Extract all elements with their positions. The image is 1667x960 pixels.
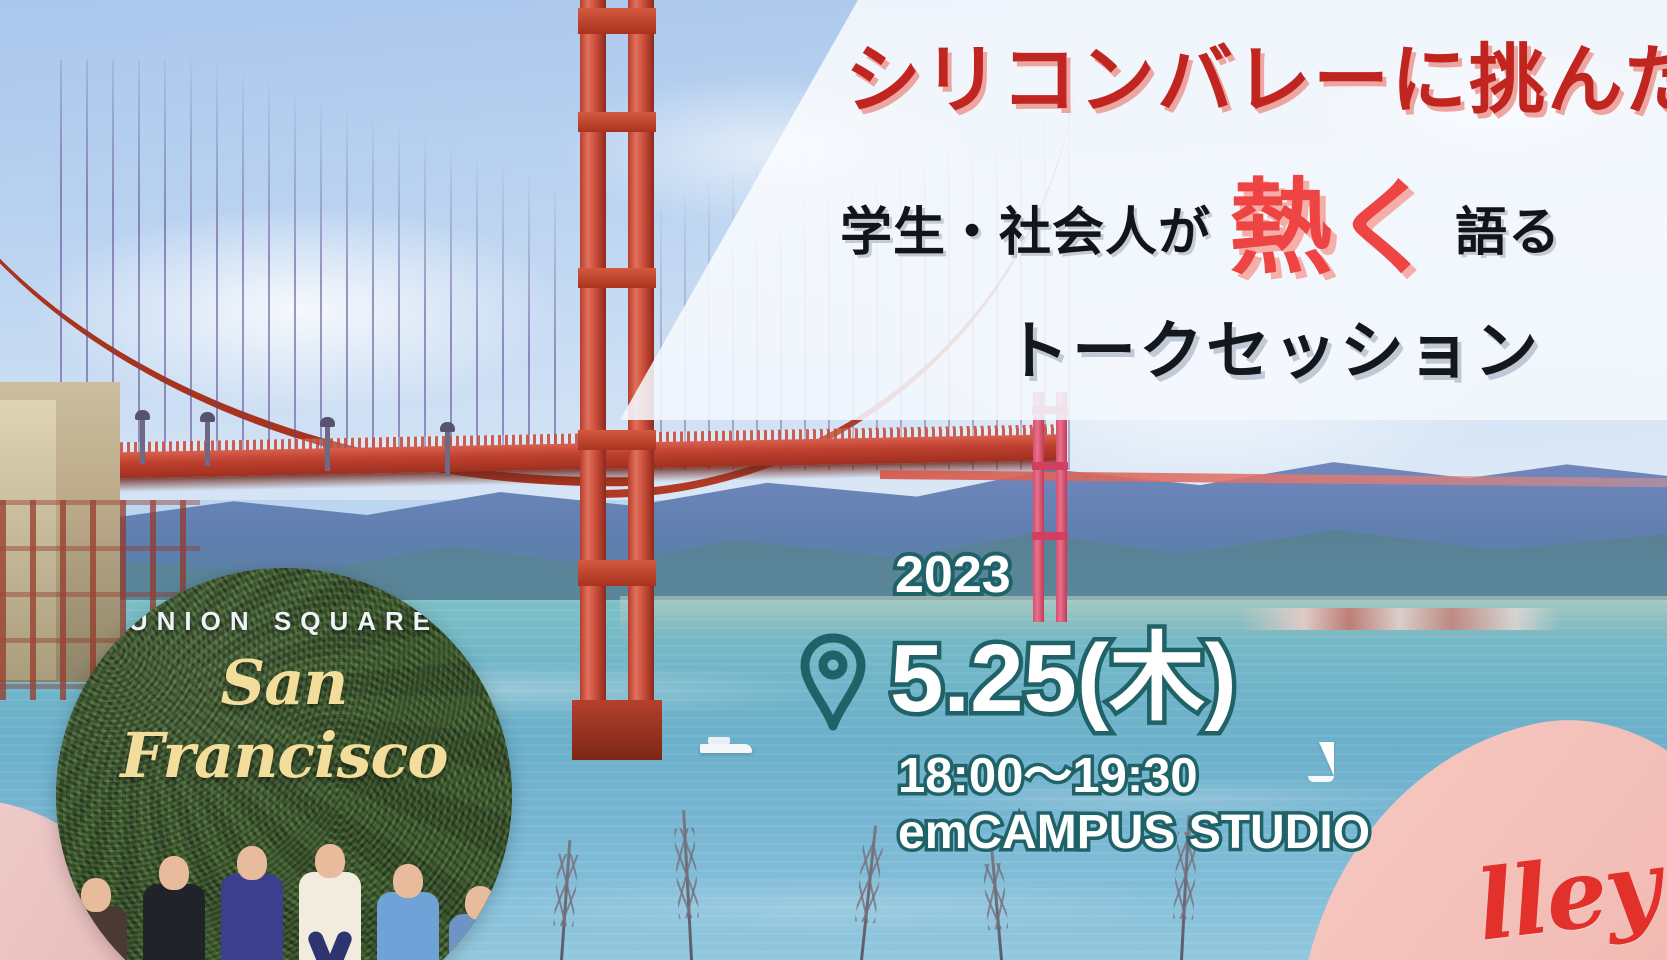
event-year: 2023 (895, 545, 1011, 605)
tower-crossbar (578, 430, 656, 450)
event-poster: lley UNION SQUARE San Francisco (0, 0, 1667, 960)
union-square-circle-photo: UNION SQUARE San Francisco (56, 568, 512, 960)
tower-crossbar (578, 560, 656, 586)
headline-line-2: 学生・社会人が 熱く 語る (840, 168, 1561, 265)
sailboat-hull (1308, 776, 1334, 782)
headline-line-3: トークセッション (1005, 300, 1541, 392)
bridge-lamppost (140, 418, 145, 464)
headline-emphasis-word: 熱く (1229, 182, 1437, 276)
bridge-deck-far-span (880, 470, 1667, 487)
tower-crossbar (1032, 532, 1068, 540)
tower-leg-right (1056, 392, 1067, 622)
sailboat (1302, 742, 1338, 784)
event-time: 18:00〜19:30 (898, 736, 1198, 807)
sailboat-sail (1316, 742, 1334, 776)
bridge-lamppost (325, 425, 330, 471)
decor-script-text: lley (1471, 828, 1665, 960)
union-square-label: UNION SQUARE (56, 606, 512, 637)
tower-base-pier (572, 700, 662, 760)
san-francisco-script-label: San Francisco (56, 646, 512, 792)
headline-block: シリコンバレーに挑んだ 学生・社会人が 熱く 語る トークセッション (0, 0, 1667, 420)
bridge-tower-far (1032, 392, 1068, 622)
bridge-lamppost (205, 420, 210, 466)
headline-line-2-prefix: 学生・社会人が (840, 190, 1211, 265)
location-pin-icon (798, 632, 868, 732)
boat (700, 744, 752, 753)
headline-line-1: シリコンバレーに挑んだ (845, 18, 1667, 128)
tower-leg-left (1033, 392, 1044, 622)
headline-line-2-suffix: 語る (1455, 190, 1561, 265)
group-photo-people (56, 814, 512, 960)
event-venue: emCAMPUS STUDIO (898, 805, 1370, 860)
tower-crossbar (1032, 462, 1068, 470)
event-date: 5.25(木) (890, 600, 1237, 739)
bridge-lamppost (445, 430, 450, 476)
